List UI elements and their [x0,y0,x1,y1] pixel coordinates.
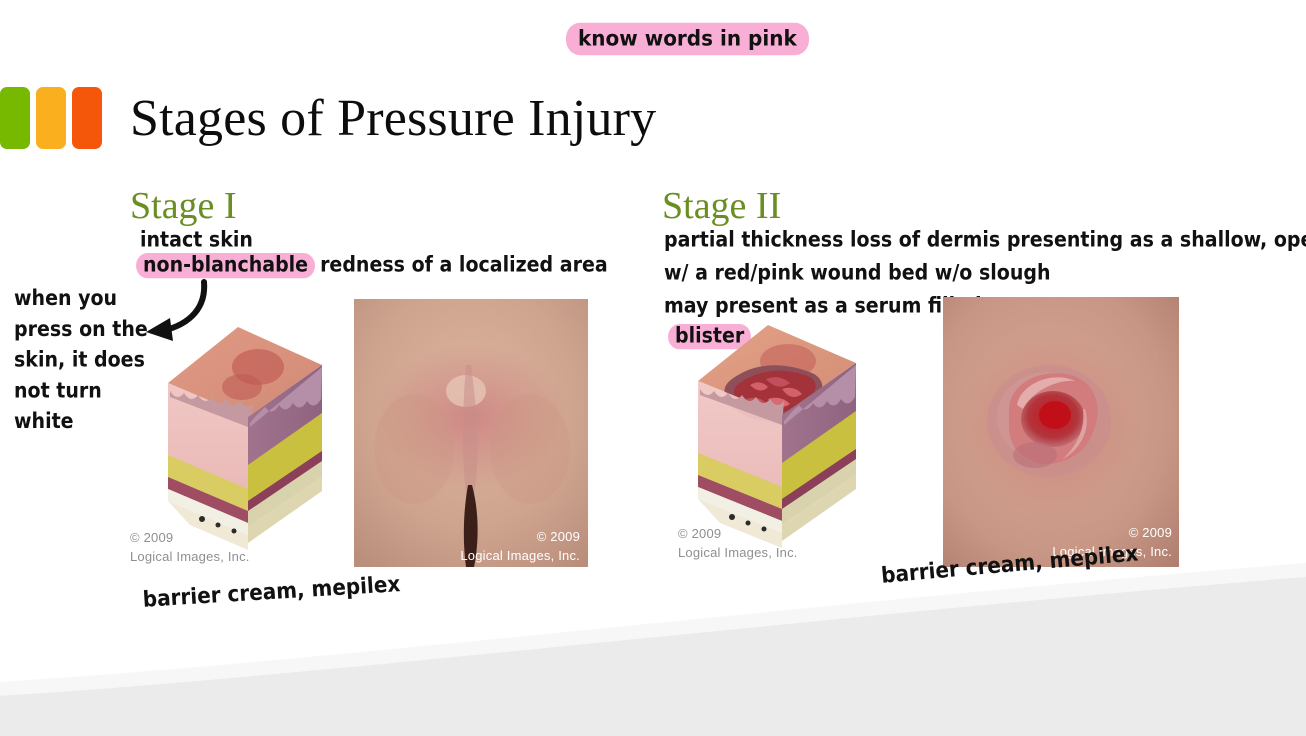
credit-year: © 2009 [678,524,798,543]
accent-bar-amber [36,87,66,149]
page-title: Stages of Pressure Injury [130,88,656,150]
annotation-redness-text: redness of a localized area [320,253,608,277]
annotation-stage-2-line-1: partial thickness loss of dermis present… [664,228,1306,252]
pink-legend-note: know words in pink [566,23,809,55]
annotation-stage-2-line-2: w/ a red/pink wound bed w/o slough [664,261,1051,285]
stage-1-heading: Stage I [130,185,237,227]
slide-canvas: know words in pink Stages of Pressure In… [0,0,1306,736]
credit-owner: Logical Images, Inc. [678,543,798,562]
credit-owner: Logical Images, Inc. [130,547,250,566]
highlight-non-blanchable: non-blanchable [136,253,315,278]
accent-bar-orange [72,87,102,149]
annotation-intact-skin: intact skin [140,228,253,252]
credit-year: © 2009 [130,528,250,547]
annotation-stage-1-treatment: barrier cream, mepilex [142,570,401,612]
accent-bar-green [0,87,30,149]
credit-owner: Logical Images, Inc. [458,546,580,565]
stage-1-diagram-credit: © 2009 Logical Images, Inc. [130,528,250,566]
stage-2-heading: Stage II [662,185,781,227]
stage-1-photo-credit: © 2009 Logical Images, Inc. [458,527,580,565]
credit-year: © 2009 [458,527,580,546]
stage-2-diagram-credit: © 2009 Logical Images, Inc. [678,524,798,562]
credit-year: © 2009 [1048,523,1172,542]
annotation-non-blanchable-redness: non-blanchableredness of a localized are… [136,253,608,277]
accent-bars [0,87,102,149]
